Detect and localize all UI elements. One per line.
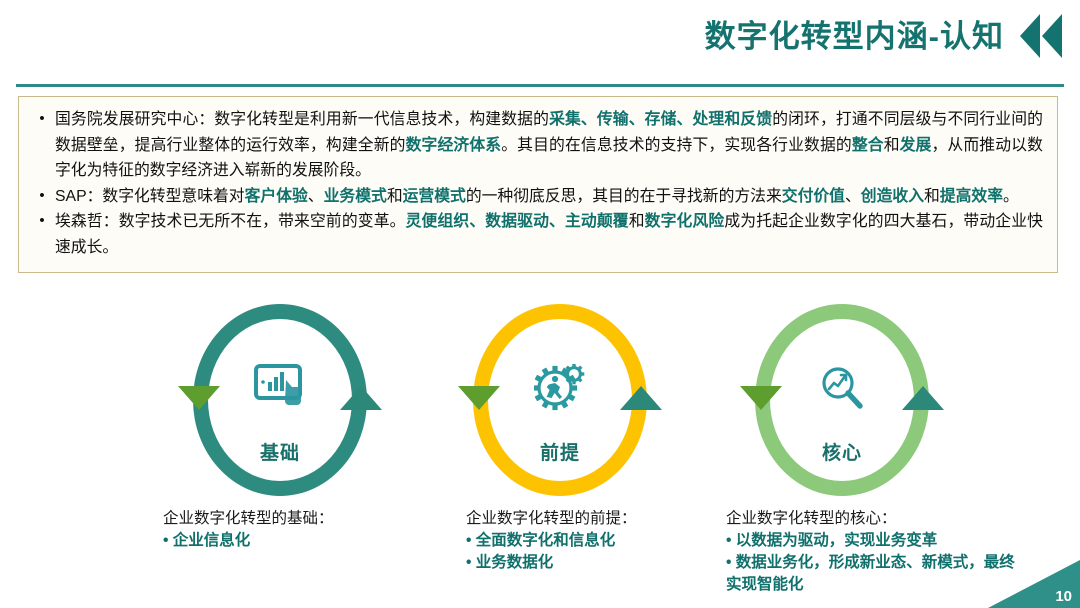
body-text: 和 (629, 213, 645, 230)
arrow-up-icon (620, 386, 662, 410)
arrow-up-icon (340, 386, 382, 410)
caption-group: 企业数字化转型的基础：• 企业信息化企业数字化转型的前提：• 全面数字化和信息化… (0, 508, 1080, 608)
ring-unit-2[interactable]: 前提 (440, 300, 680, 500)
highlighted-term: 数字化风险 (645, 213, 725, 230)
body-text: 埃森哲：数字技术已无所不在，带来空前的变革。 (55, 213, 406, 230)
definition-text: 国务院发展研究中心：数字化转型是利用新一代信息技术，构建数据的采集、传输、存储、… (55, 107, 1043, 184)
definitions-box: •国务院发展研究中心：数字化转型是利用新一代信息技术，构建数据的采集、传输、存储… (18, 96, 1058, 273)
body-text: 。 (1003, 188, 1019, 205)
definition-bullet: •国务院发展研究中心：数字化转型是利用新一代信息技术，构建数据的采集、传输、存储… (29, 107, 1043, 184)
bullet-marker-icon: • (29, 107, 55, 131)
caption-item: • 以数据为驱动，实现业务变革 (726, 530, 1026, 552)
body-text: 、 (845, 188, 861, 205)
highlighted-term: 业务模式 (324, 188, 387, 205)
arrow-down-icon (740, 386, 782, 410)
ring-label: 前提 (473, 438, 647, 465)
caption-item: • 全面数字化和信息化 (466, 530, 726, 552)
ring-unit-3[interactable]: 核心 (722, 300, 962, 500)
body-text: 和 (387, 188, 403, 205)
slide-header: 数字化转型内涵-认知 (0, 0, 1080, 86)
caption-title: 企业数字化转型的核心： (726, 508, 1026, 530)
highlighted-term: 交付价值 (782, 188, 845, 205)
highlighted-term: 提高效率 (940, 188, 1003, 205)
ring-label: 核心 (755, 438, 929, 465)
caption-block-2: 企业数字化转型的前提：• 全面数字化和信息化• 业务数据化 (466, 508, 726, 574)
ring-unit-1[interactable]: 基础 (160, 300, 400, 500)
definition-bullet: •SAP：数字化转型意味着对客户体验、业务模式和运营模式的一种彻底反思，其目的在… (29, 184, 1043, 210)
caption-item: • 业务数据化 (466, 552, 726, 574)
title-row: 数字化转型内涵-认知 (705, 14, 1062, 58)
body-text: 。其目的在信息技术的支持下，实现各行业数据的 (501, 137, 852, 154)
caption-block-3: 企业数字化转型的核心：• 以数据为驱动，实现业务变革• 数据业务化，形成新业态、… (726, 508, 1026, 596)
caption-title: 企业数字化转型的前提： (466, 508, 726, 530)
body-text: 国务院发展研究中心：数字化转型是利用新一代信息技术，构建数据的 (55, 111, 549, 128)
body-text: 和 (884, 137, 900, 154)
three-ring-diagram: 基础前提核心 (0, 300, 1080, 510)
page-number: 10 (1055, 589, 1072, 604)
highlighted-term: 采集、传输、存储、处理和反馈 (549, 111, 772, 128)
double-chevron-left-icon (1020, 14, 1062, 58)
body-text: 和 (924, 188, 940, 205)
caption-block-1: 企业数字化转型的基础：• 企业信息化 (163, 508, 453, 552)
header-divider (16, 84, 1064, 87)
body-text: 、 (308, 188, 324, 205)
definition-text: 埃森哲：数字技术已无所不在，带来空前的变革。灵便组织、数据驱动、主动颠覆和数字化… (55, 209, 1043, 260)
highlighted-term: 创造收入 (861, 188, 924, 205)
arrow-down-icon (458, 386, 500, 410)
highlighted-term: 客户体验 (245, 188, 308, 205)
highlighted-term: 运营模式 (403, 188, 466, 205)
ring-label: 基础 (193, 438, 367, 465)
chevron-left-icon-1 (1020, 14, 1040, 58)
arrow-up-icon (902, 386, 944, 410)
chevron-left-icon-2 (1042, 14, 1062, 58)
arrow-down-icon (178, 386, 220, 410)
highlighted-term: 数字经济体系 (406, 137, 502, 154)
caption-title: 企业数字化转型的基础： (163, 508, 453, 530)
caption-item: • 数据业务化，形成新业态、新模式，最终实现智能化 (726, 552, 1026, 596)
highlighted-term: 整合 (852, 137, 884, 154)
page-number-corner: 10 (988, 560, 1080, 608)
page-title: 数字化转型内涵-认知 (705, 21, 1004, 52)
bullet-marker-icon: • (29, 209, 55, 233)
definition-bullet: •埃森哲：数字技术已无所不在，带来空前的变革。灵便组织、数据驱动、主动颠覆和数字… (29, 209, 1043, 260)
bullet-marker-icon: • (29, 184, 55, 208)
definition-text: SAP：数字化转型意味着对客户体验、业务模式和运营模式的一种彻底反思，其目的在于… (55, 184, 1043, 210)
highlighted-term: 发展 (900, 137, 932, 154)
caption-item: • 企业信息化 (163, 530, 453, 552)
body-text: 的一种彻底反思，其目的在于寻找新的方法来 (466, 188, 782, 205)
body-text: SAP：数字化转型意味着对 (55, 188, 245, 205)
highlighted-term: 灵便组织、数据驱动、主动颠覆 (406, 213, 629, 230)
